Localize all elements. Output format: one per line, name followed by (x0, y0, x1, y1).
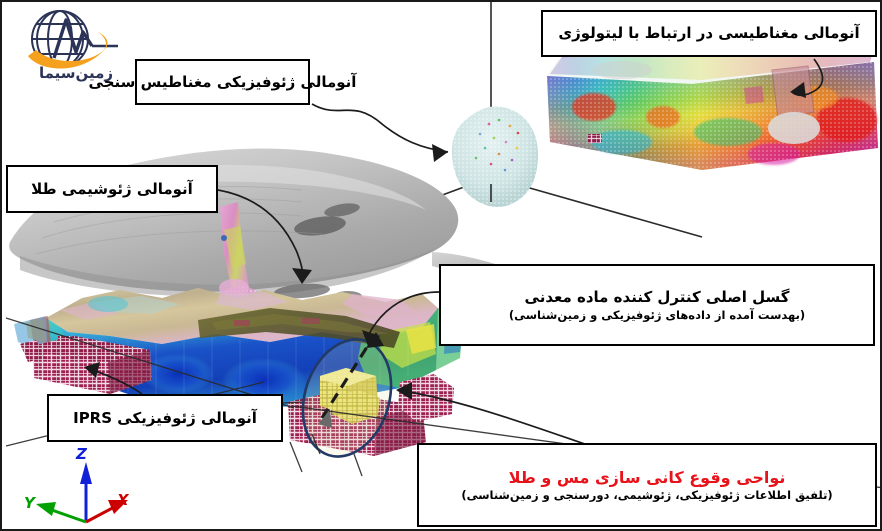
axis-label-z: Z (76, 445, 87, 463)
callout-subtitle: (تلفیق اطلاعات ژئوفیزیکی، ژئوشیمی، دورسن… (461, 488, 832, 503)
axis-label-x: X (117, 491, 129, 509)
callout-title: آنومالی ژئوفیزیکی IPRS (73, 408, 257, 428)
leader-magnetometry (312, 104, 448, 152)
callout-title: آنومالی ژئوفیزیکی مغناطیس سنجی (89, 72, 357, 92)
callout-title: آنومالی ژئوشیمی طلا (31, 179, 193, 199)
callout-subtitle: (بهدست آمده از داده‌های ژئوفیزیکی و زمین… (509, 308, 805, 323)
arrowhead-magnetometry (432, 144, 448, 162)
callout-gold-geochemistry: آنومالی ژئوشیمی طلا (6, 165, 218, 213)
callout-magnetometry-anomaly: آنومالی ژئوفیزیکی مغناطیس سنجی (135, 59, 310, 105)
callout-title: نواحی وقوع کانی سازی مس و طلا (509, 467, 786, 489)
callout-iprs-geophysics-anomaly: آنومالی ژئوفیزیکی IPRS (47, 394, 283, 442)
magnetometry-point-cloud (452, 106, 538, 207)
callout-cu-au-mineralization-zones: نواحی وقوع کانی سازی مس و طلا (تلفیق اطل… (417, 443, 877, 527)
callout-main-ore-controlling-fault: گسل اصلی کنترل کننده ماده معدنی (بهدست آ… (439, 264, 875, 346)
axis-triad: Z X Y (10, 445, 130, 527)
callout-title: آنومالی مغناطیسی در ارتباط با لیتولوژی (558, 23, 859, 43)
axis-label-y: Y (24, 494, 35, 512)
figure-canvas: زمین‌سیما آنومالی ژئوفیزیکی مغناطیس سنجی… (0, 0, 882, 531)
callout-magnetic-lithology: آنومالی مغناطیسی در ارتباط با لیتولوژی (541, 10, 877, 57)
callout-title: گسل اصلی کنترل کننده ماده معدنی (525, 287, 790, 307)
